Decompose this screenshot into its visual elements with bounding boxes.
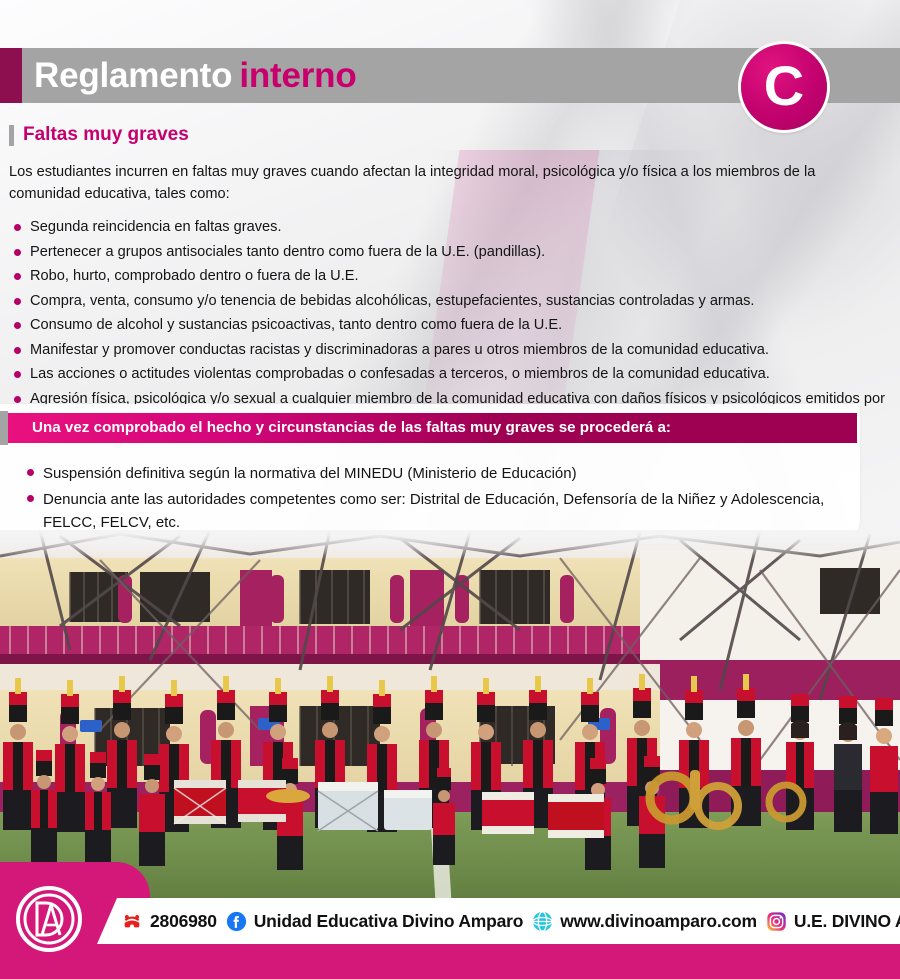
section-subtitle: Faltas muy graves [9, 124, 189, 146]
list-item: Las acciones o actitudes violentas compr… [9, 364, 889, 386]
contact-instagram-label: U.E. DIVINO AMPARO [794, 911, 900, 931]
list-item-text: Robo, hurto, comprobado dentro o fuera d… [30, 266, 359, 288]
subtitle-accent-bar [9, 125, 14, 146]
list-item: Pertenecer a grupos antisociales tanto d… [9, 242, 889, 264]
section-badge-letter: C [764, 58, 804, 114]
logo-divino-amparo [15, 885, 83, 953]
bullet-icon [14, 396, 21, 403]
header-left-accent [0, 48, 22, 103]
list-item-text: Pertenecer a grupos antisociales tanto d… [30, 242, 545, 264]
contact-website[interactable]: www.divinoamparo.com [532, 911, 757, 932]
intro-paragraph: Los estudiantes incurren en faltas muy g… [9, 161, 871, 205]
list-item: Compra, venta, consumo y/o tenencia de b… [9, 291, 889, 313]
bullet-icon [14, 298, 21, 305]
telephone-icon [121, 910, 143, 932]
bullet-icon [14, 347, 21, 354]
bullet-icon [14, 273, 21, 280]
procedure-list: Suspensión definitiva según la normativa… [22, 462, 867, 537]
bullet-icon [14, 249, 21, 256]
list-item: Consumo de alcohol y sustancias psicoact… [9, 315, 889, 337]
list-item: Suspensión definitiva según la normativa… [22, 462, 867, 485]
school-band-photo [0, 530, 900, 910]
bullet-icon [27, 495, 34, 502]
subtitle-label: Faltas muy graves [23, 124, 189, 146]
contact-instagram[interactable]: U.E. DIVINO AMPARO [766, 911, 900, 932]
photo-top-fade [0, 530, 900, 556]
footer-contact-items: 2806980 Unidad Educativa Divino Amparo [97, 898, 900, 944]
contact-facebook-label: Unidad Educativa Divino Amparo [254, 911, 524, 931]
list-item: Segunda reincidencia en faltas graves. [9, 217, 889, 239]
list-item-text: Segunda reincidencia en faltas graves. [30, 217, 282, 239]
list-item: Robo, hurto, comprobado dentro o fuera d… [9, 266, 889, 288]
page-title-word-1: Reglamento [34, 56, 232, 95]
flyer-page: Reglamentointerno C Faltas muy graves Lo… [0, 0, 900, 979]
instagram-icon [766, 911, 787, 932]
globe-icon [532, 911, 553, 932]
page-title-word-2: interno [239, 56, 356, 95]
bullet-icon [14, 322, 21, 329]
page-title: Reglamentointerno [34, 52, 357, 100]
list-item-text: Manifestar y promover conductas racistas… [30, 340, 769, 362]
contact-phone-label: 2806980 [150, 911, 217, 931]
list-item-text: Consumo de alcohol y sustancias psicoact… [30, 315, 562, 337]
procedure-heading-text: Una vez comprobado el hecho y circunstan… [32, 416, 671, 440]
bullet-icon [14, 371, 21, 378]
facebook-icon [226, 911, 247, 932]
list-item: Manifestar y promover conductas racistas… [9, 340, 889, 362]
bullet-icon [27, 469, 34, 476]
list-item-text: Suspensión definitiva según la normativa… [43, 462, 577, 485]
list-item: Denuncia ante las autoridades competente… [22, 488, 867, 534]
contact-website-label: www.divinoamparo.com [560, 911, 757, 931]
contact-phone[interactable]: 2806980 [121, 910, 217, 932]
section-badge: C [741, 44, 827, 130]
procedure-heading-accent [0, 411, 8, 445]
list-item-text: Compra, venta, consumo y/o tenencia de b… [30, 291, 754, 313]
list-item-text: Denuncia ante las autoridades competente… [43, 488, 867, 534]
contact-facebook[interactable]: Unidad Educativa Divino Amparo [226, 911, 524, 932]
list-item-text: Las acciones o actitudes violentas compr… [30, 364, 770, 386]
bullet-icon [14, 224, 21, 231]
faults-list: Segunda reincidencia en faltas graves. P… [9, 217, 889, 435]
